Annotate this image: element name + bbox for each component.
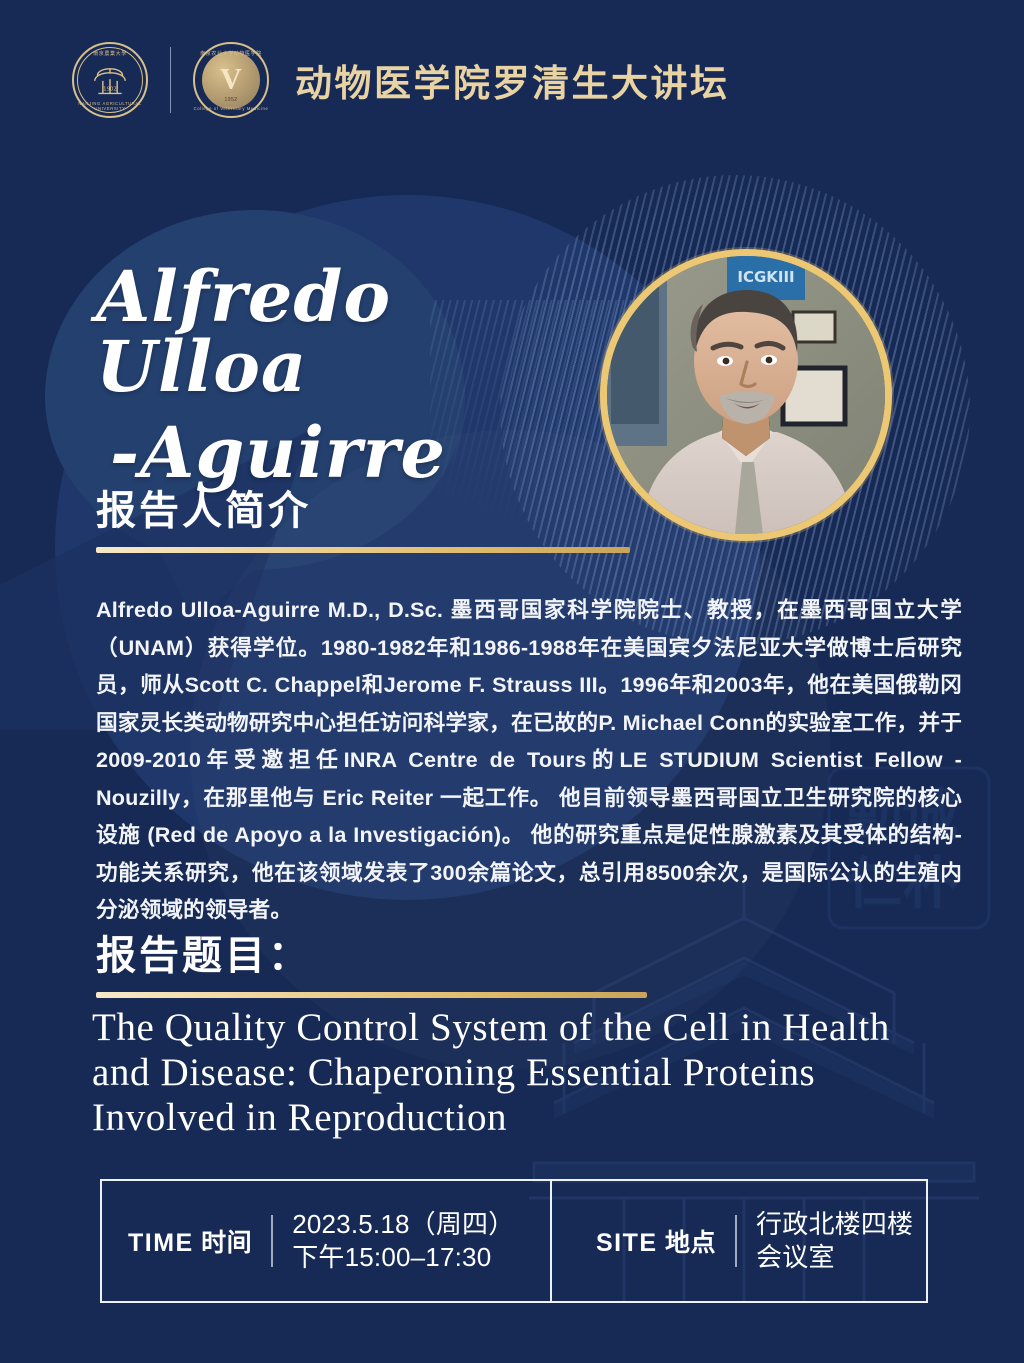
cvm-seal-bottom-text: College of Veterinary Medicine <box>193 106 269 111</box>
event-site-label: SITE 地点 <box>596 1223 716 1259</box>
event-site-separator <box>735 1215 737 1267</box>
nanjing-agricultural-university-logo: 南京農業大學 1902 NANJING AGRICULTURAL UNIVERS… <box>72 42 148 118</box>
bio-section-label: 报告人简介 <box>96 486 630 536</box>
cvm-monogram-icon: V <box>193 64 269 94</box>
topic-section-rule <box>96 992 647 998</box>
event-site-value: 行政北楼四楼 会议室 <box>756 1208 913 1274</box>
college-of-veterinary-medicine-logo: 南京农业大学动物医学院 V 1952 College of Veterinary… <box>193 42 269 118</box>
talk-title-line-3: Involved in Reproduction <box>92 1095 942 1140</box>
seal-bottom-text: NANJING AGRICULTURAL UNIVERSITY <box>72 101 148 111</box>
bio-section-rule <box>96 547 630 553</box>
event-time-label: TIME 时间 <box>128 1223 252 1259</box>
speaker-bio-text: Alfredo Ulloa-Aguirre M.D., D.Sc. 墨西哥国家科… <box>96 591 962 929</box>
event-venue-line-1: 行政北楼四楼 <box>756 1208 913 1241</box>
university-gate-icon: 1902 <box>92 63 128 97</box>
speaker-name-line-2: -Aguirre <box>110 418 616 488</box>
speaker-portrait: ICGKIII <box>600 249 892 541</box>
talk-title: The Quality Control System of the Cell i… <box>92 1005 942 1140</box>
cvm-seal-year: 1952 <box>193 97 269 103</box>
talk-title-line-1-text: The Quality Control System of the Cell i… <box>92 1005 890 1050</box>
talk-title-line-1: The Quality Control System of the Cell i… <box>92 1005 942 1050</box>
event-date: 2023.5.18（周四） <box>292 1208 514 1241</box>
svg-text:1902: 1902 <box>103 87 117 93</box>
event-time-value: 2023.5.18（周四） 下午15:00–17:30 <box>292 1208 514 1274</box>
poster-header-title: 动物医学院罗清生大讲坛 <box>295 53 730 107</box>
cvm-seal-top-text: 南京农业大学动物医学院 <box>193 50 269 57</box>
logo-divider <box>170 47 171 113</box>
event-site-label-en: SITE <box>596 1229 658 1257</box>
seal-top-text: 南京農業大學 <box>72 50 148 57</box>
event-site-label-zh: 地点 <box>665 1229 716 1257</box>
event-venue-line-2: 会议室 <box>756 1241 913 1274</box>
event-time-label-zh: 时间 <box>201 1229 252 1257</box>
poster-header: 南京農業大學 1902 NANJING AGRICULTURAL UNIVERS… <box>0 0 1024 160</box>
speaker-name-line-1: Alfredo Ulloa <box>96 255 391 408</box>
event-hours: 下午15:00–17:30 <box>292 1241 514 1274</box>
event-info-box: TIME 时间 2023.5.18（周四） 下午15:00–17:30 SITE… <box>100 1179 928 1303</box>
lecture-poster: 勤诚 仁朴 南京農業大學 1902 <box>0 0 1024 1363</box>
talk-title-line-2: and Disease: Chaperoning Essential Prote… <box>92 1050 942 1095</box>
topic-section-header: 报告题目： <box>96 931 647 998</box>
event-time-cell: TIME 时间 2023.5.18（周四） 下午15:00–17:30 <box>102 1181 550 1301</box>
event-site-cell: SITE 地点 行政北楼四楼 会议室 <box>550 1181 926 1301</box>
event-time-separator <box>271 1215 273 1267</box>
speaker-photo: ICGKIII <box>607 256 885 534</box>
svg-text:ICGKIII: ICGKIII <box>737 268 794 286</box>
speaker-name: Alfredo Ulloa -Aguirre <box>96 262 616 488</box>
event-time-label-en: TIME <box>128 1229 194 1257</box>
topic-section-label: 报告题目： <box>96 931 647 981</box>
bio-section-header: 报告人简介 <box>96 486 630 553</box>
